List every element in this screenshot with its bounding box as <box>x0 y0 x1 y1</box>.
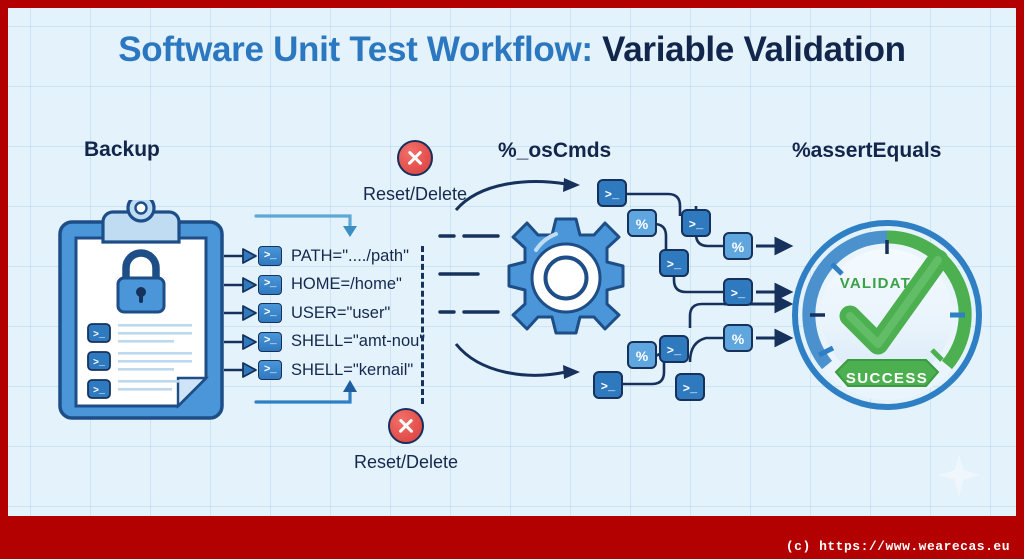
svg-text:>_: >_ <box>667 258 682 272</box>
terminal-icon: >_ <box>258 332 282 352</box>
list-item[interactable]: >_ USER="user" <box>224 300 425 326</box>
variable-label: USER="user" <box>291 304 390 323</box>
footer-copyright: (c) https://www.wearecas.eu <box>786 539 1010 554</box>
gauge-success-label: SUCCESS <box>846 370 928 387</box>
svg-text:>_: >_ <box>667 344 682 358</box>
variable-label: SHELL="amt-nou" <box>291 332 425 351</box>
gear-icon <box>509 219 623 333</box>
x-circle-icon <box>388 408 424 444</box>
arrow-icon <box>224 305 258 321</box>
svg-text:>_: >_ <box>689 218 704 232</box>
poster-frame: Software Unit Test Workflow: Variable Va… <box>0 0 1024 559</box>
variable-label: SHELL="kernail" <box>291 361 413 380</box>
column-header-backup: Backup <box>84 138 160 162</box>
page-title-secondary: Variable Validation <box>593 30 906 69</box>
page-title: Software Unit Test Workflow: Variable Va… <box>8 30 1016 70</box>
svg-text:%: % <box>636 216 649 232</box>
variable-label: PATH="..../path" <box>291 247 409 266</box>
svg-text:>_: >_ <box>93 330 106 341</box>
svg-text:%: % <box>732 331 745 347</box>
oscmds-network: >_ >_ >_ >_ >_ >_ <box>438 176 798 438</box>
arrow-icon <box>224 277 258 293</box>
sparkle-icon <box>936 452 982 498</box>
svg-text:>_: >_ <box>683 382 698 396</box>
footer-bar: (c) https://www.wearecas.eu <box>0 533 1024 559</box>
svg-text:%: % <box>732 239 745 255</box>
terminal-icon: >_ <box>258 275 282 295</box>
svg-text:>_: >_ <box>93 386 106 397</box>
column-header-assertequals: %assertEquals <box>792 139 941 163</box>
arrow-icon <box>224 362 258 378</box>
reset-delete-bottom-label: Reset/Delete <box>326 452 486 473</box>
clipboard-lock-icon: >_ >_ >_ <box>56 200 226 422</box>
variable-label: HOME=/home" <box>291 275 402 294</box>
svg-text:>_: >_ <box>601 380 616 394</box>
list-item[interactable]: >_ PATH="..../path" <box>224 243 425 269</box>
section-divider <box>421 246 424 404</box>
variable-list: >_ PATH="..../path" >_ HOME=/home" >_ US… <box>224 243 425 386</box>
svg-text:%: % <box>636 348 649 364</box>
list-item[interactable]: >_ HOME=/home" <box>224 272 425 298</box>
terminal-icon: >_ <box>258 360 282 380</box>
terminal-icon: >_ <box>258 246 282 266</box>
arrow-icon <box>224 334 258 350</box>
page-title-primary: Software Unit Test Workflow: <box>118 30 593 69</box>
backup-in-arrow <box>254 206 366 242</box>
list-item[interactable]: >_ SHELL="amt-nou" <box>224 329 425 355</box>
terminal-icon: >_ <box>258 303 282 323</box>
svg-text:>_: >_ <box>605 188 620 202</box>
validation-gauge: VALIDATED SUCCESS <box>792 220 982 410</box>
x-circle-icon <box>397 140 433 176</box>
list-item[interactable]: >_ SHELL="kernail" <box>224 357 425 383</box>
column-header-oscmds: %_osCmds <box>498 139 611 163</box>
diagram-canvas: Software Unit Test Workflow: Variable Va… <box>8 8 1016 516</box>
svg-text:>_: >_ <box>731 287 746 301</box>
svg-text:>_: >_ <box>93 358 106 369</box>
arrow-icon <box>224 248 258 264</box>
